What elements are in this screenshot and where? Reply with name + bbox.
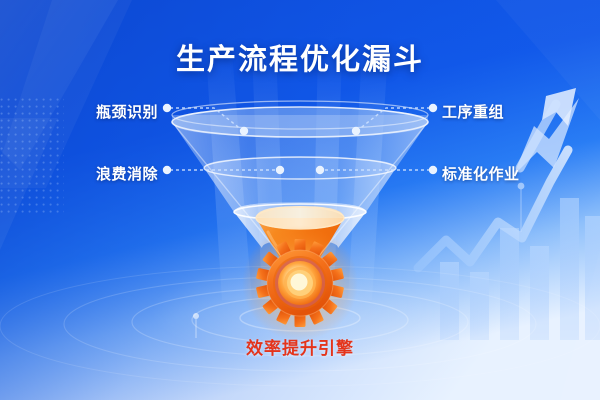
dot-mid-right-outer (429, 166, 437, 174)
label-bottleneck-identification[interactable]: 瓶颈识别 (96, 101, 158, 122)
infographic-canvas: 生产流程优化漏斗 瓶颈识别 工序重组 浪费消除 标准化作业 效率提升引擎 (0, 0, 600, 400)
efficiency-engine-caption: 效率提升引擎 (0, 334, 600, 359)
dot-top-left-inner (240, 127, 248, 135)
dot-mid-right-inner (316, 166, 324, 174)
dot-mid-left-outer (163, 166, 171, 174)
label-standardized-operations[interactable]: 标准化作业 (442, 163, 520, 184)
dot-top-right-inner (352, 127, 360, 135)
dot-top-left-outer (163, 104, 171, 112)
label-process-reorganization[interactable]: 工序重组 (442, 101, 504, 122)
dot-top-right-outer (429, 104, 437, 112)
efficiency-gear-icon (256, 239, 344, 327)
label-waste-elimination[interactable]: 浪费消除 (96, 163, 158, 184)
page-title: 生产流程优化漏斗 (0, 36, 600, 78)
dot-mid-left-inner (276, 166, 284, 174)
